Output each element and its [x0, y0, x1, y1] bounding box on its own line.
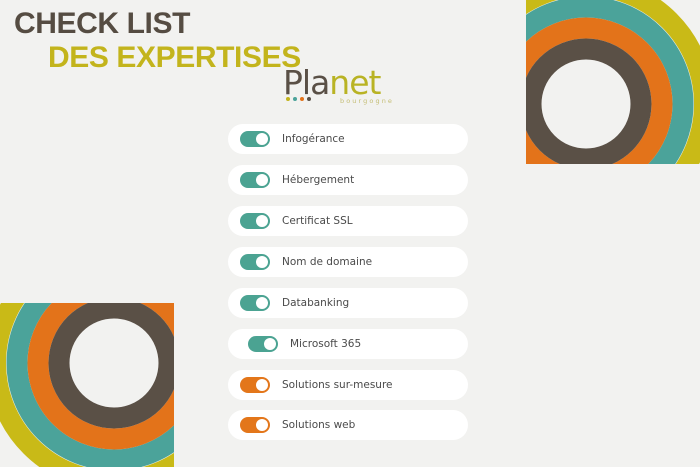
checklist-item-label: Nom de domaine	[282, 256, 372, 268]
toggle-switch-infogerance[interactable]	[240, 131, 270, 147]
page-title-line-1: CHECK LIST	[14, 8, 430, 40]
toggle-knob	[256, 174, 269, 187]
toggle-knob	[256, 215, 269, 228]
checklist-row[interactable]: Solutions sur-mesure	[228, 370, 468, 400]
toggle-knob	[256, 133, 269, 146]
checklist-row[interactable]: Hébergement	[228, 165, 468, 195]
toggle-switch-solutions-web[interactable]	[240, 417, 270, 433]
arc-band-orange	[526, 28, 662, 164]
arc-band-teal	[526, 7, 683, 164]
checklist-row[interactable]: Solutions web	[228, 410, 468, 440]
checklist-item-label: Infogérance	[282, 133, 345, 145]
toggle-switch-microsoft-365[interactable]	[248, 336, 278, 352]
rainbow-arc-bottom-left-icon	[0, 303, 174, 467]
checklist-item-label: Certificat SSL	[282, 215, 353, 227]
toggle-switch-hebergement[interactable]	[240, 172, 270, 188]
arc-band-brown	[59, 308, 169, 418]
checklist-item-label: Solutions sur-mesure	[282, 379, 393, 391]
checklist-row[interactable]: Databanking	[228, 288, 468, 318]
toggle-knob	[256, 419, 269, 432]
checklist-item-label: Solutions web	[282, 419, 355, 431]
planet-bourgogne-logo: Planet bourgogne	[283, 66, 415, 114]
toggle-knob	[264, 338, 277, 351]
logo-tagline: bourgogne	[340, 97, 394, 105]
checklist-row[interactable]: Certificat SSL	[228, 206, 468, 236]
checklist-row[interactable]: Nom de domaine	[228, 247, 468, 277]
checklist-item-label: Databanking	[282, 297, 349, 309]
logo-dots-icon	[286, 97, 311, 101]
arc-band-brown	[531, 49, 641, 159]
toggle-switch-certificat-ssl[interactable]	[240, 213, 270, 229]
arc-band-olive	[526, 0, 700, 164]
checklist-item-label: Microsoft 365	[290, 338, 361, 350]
toggle-switch-solutions-sur-mesure[interactable]	[240, 377, 270, 393]
checklist-row[interactable]: Infogérance	[228, 124, 468, 154]
logo-wordmark: Planet	[283, 66, 380, 99]
arc-band-orange	[38, 303, 174, 439]
toggle-switch-databanking[interactable]	[240, 295, 270, 311]
arc-band-teal	[17, 303, 174, 460]
checklist-row[interactable]: Microsoft 365	[228, 329, 468, 359]
toggle-knob	[256, 256, 269, 269]
toggle-switch-nom-de-domaine[interactable]	[240, 254, 270, 270]
expertise-checklist: Infogérance Hébergement Certificat SSL N…	[228, 124, 468, 450]
arc-band-olive	[0, 303, 174, 467]
toggle-knob	[256, 297, 269, 310]
checklist-item-label: Hébergement	[282, 174, 354, 186]
rainbow-arc-top-right-icon	[526, 0, 700, 164]
toggle-knob	[256, 379, 269, 392]
poster-canvas: CHECK LIST DES EXPERTISES Planet bourgog…	[0, 0, 700, 467]
